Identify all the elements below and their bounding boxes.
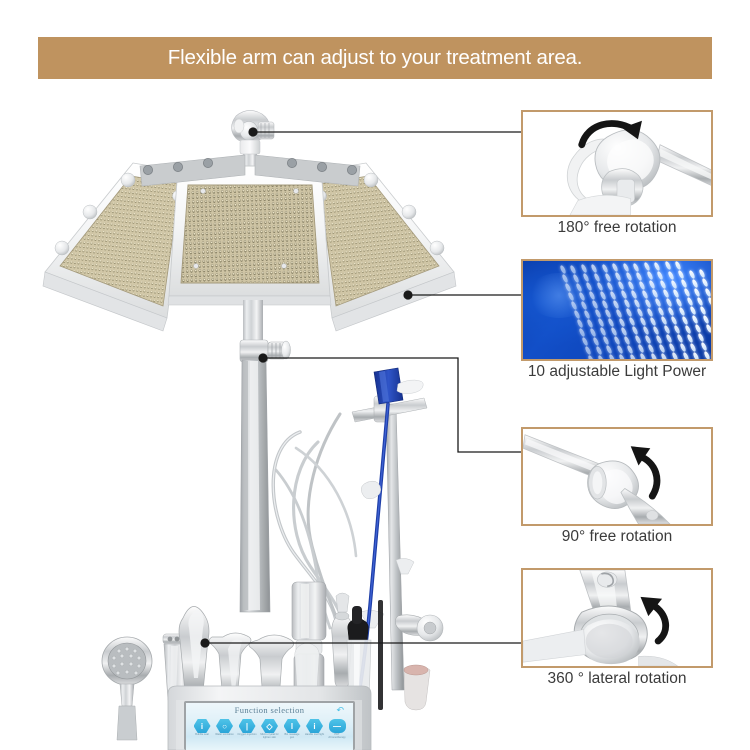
led-dot [705,323,713,333]
led-dot [616,345,624,355]
led-dot [569,264,577,274]
hex-icon: l [284,719,301,733]
led-dot [675,261,683,271]
mid-arm-joint [240,340,291,362]
led-dot [576,319,584,329]
led-dot [640,353,648,361]
led-dot [613,336,621,346]
blue-paddle-handle [374,368,423,404]
led-dot [684,324,692,334]
led-dot [618,317,626,327]
blue-led-panel-art [523,261,711,359]
led-dot [573,310,581,320]
led-dot [636,308,644,318]
led-dot-grid [523,261,711,359]
support-pole [240,300,291,612]
led-dot [679,343,687,353]
led-dot [668,343,676,353]
led-dot [691,278,699,288]
function-button-water-ionization[interactable]: ○ Water ionization [215,719,235,737]
led-dot [662,288,670,298]
led-dot [620,290,628,300]
led-dot [659,279,667,289]
led-dot [644,335,652,345]
led-dot [612,299,620,309]
back-arrow-icon[interactable]: ↶ [336,705,344,716]
led-dot [680,279,688,289]
led-dot [707,296,713,306]
led-dot [635,271,643,281]
joint-photo-art [523,112,711,215]
led-dot [621,326,629,336]
led-dot [610,327,618,337]
led-dot [614,272,622,282]
led-dot [677,270,685,280]
function-button-oxygen-injection[interactable]: | Oxygen injection [237,719,257,737]
function-button-micro-crystal[interactable]: ◇ Micro crystal for tighten skin [260,719,280,739]
led-dot [601,263,609,273]
function-button-bio-massage[interactable]: l Bio massage gun [282,719,302,739]
led-dot [590,263,598,273]
led-dot [584,346,592,356]
led-dot [602,336,610,346]
function-label: Oxygen injection [237,734,257,737]
led-dot [681,315,689,325]
hex-icon: i [306,719,323,733]
led-dot [664,261,672,271]
function-label: PDT chromotherapy [327,734,347,739]
led-dot [651,289,659,299]
led-dot [654,298,662,308]
led-dot [570,301,578,311]
led-dot [649,316,657,326]
feature-thumbnail[interactable] [521,427,713,526]
led-dot [643,262,651,272]
led-dot [660,316,668,326]
led-dot [579,328,587,338]
led-dot [652,325,660,335]
led-dot [567,292,575,302]
led-dot [605,345,613,355]
led-dot [572,273,580,283]
led-dot [700,342,708,352]
led-dot [702,314,710,324]
led-dot [683,288,691,298]
led-dot [649,280,657,290]
led-dot [694,287,702,297]
led-dot [607,318,615,328]
function-button-pdt[interactable]: — PDT chromotherapy [327,719,347,739]
led-dot [657,307,665,317]
led-dot [639,317,647,327]
function-label: Water ionization [215,734,235,737]
led-dot [596,282,604,292]
led-dot [587,355,595,361]
led-dot [593,272,601,282]
led-dot [697,333,705,343]
led-dot [699,305,707,315]
led-dot [673,288,681,298]
led-dot [562,274,570,284]
control-panel-screen[interactable]: Function selection ↶ i Bubble seal ○ Wat… [186,703,353,750]
led-dot [623,299,631,309]
led-dot [638,280,646,290]
led-dot [688,269,696,279]
led-dot [595,345,603,355]
led-dot [666,334,674,344]
led-dot [604,272,612,282]
hex-icon: ○ [216,719,233,733]
product-feature-slide: Function selection ↶ i Bubble seal ○ Wat… [0,0,750,750]
screen-title: Function selection [186,705,353,715]
led-dot [597,354,605,361]
function-label: Handle cool light [305,734,325,737]
led-dot [581,337,589,347]
led-dot [650,353,658,361]
led-dot [665,297,673,307]
function-label: Bubble seal [192,734,212,737]
led-dot [559,264,567,274]
feature-thumbnail[interactable] [521,110,713,217]
led-dot [599,291,607,301]
led-dot [585,282,593,292]
led-dot [689,306,697,316]
led-dot [626,308,634,318]
led-dot [701,278,709,288]
led-dot [625,271,633,281]
led-panel-right-wing [313,163,456,331]
led-dot [632,262,640,272]
trolley-side-hardware [378,558,443,710]
led-dot [682,352,690,361]
led-dot [673,325,681,335]
led-dot [691,315,699,325]
led-dot [671,352,679,361]
led-dot [656,270,664,280]
led-dot [692,351,700,361]
led-dot [617,281,625,291]
hex-icon: i [194,719,211,733]
handpiece-led-shower-head [102,637,152,740]
led-dot [647,344,655,354]
led-dot [642,326,650,336]
led-dot [667,270,675,280]
led-dot [608,354,616,361]
led-dot [629,353,637,361]
led-dot [689,342,697,352]
led-dot [696,296,704,306]
function-button-bubble-seal[interactable]: i Bubble seal [192,719,212,737]
led-dot [607,281,615,291]
led-dot [654,261,662,271]
led-dot [628,317,636,327]
led-dot [591,300,599,310]
led-dot [604,309,612,319]
led-dot [575,282,583,292]
ball-joint-photo-art [523,570,711,666]
led-dot [694,324,702,334]
led-dot [583,273,591,283]
led-dot [611,263,619,273]
banner-text: Flexible arm can adjust to your treatmen… [168,46,582,70]
led-panel-left-wing [43,163,186,331]
led-dot [687,333,695,343]
led-dot [647,307,655,317]
led-dot [578,291,586,301]
led-dot [634,335,642,345]
hex-icon: ◇ [261,719,278,733]
led-dot [581,300,589,310]
function-button-row: i Bubble seal ○ Water ionization | Oxyge… [192,719,347,739]
led-dot [594,309,602,319]
led-dot [619,354,627,361]
hex-icon: | [239,719,256,733]
led-dot [602,300,610,310]
led-dot [704,287,712,297]
led-dot [646,271,654,281]
rounded-icon: — [329,719,346,733]
led-dot [670,316,678,326]
header-banner: Flexible arm can adjust to your treatmen… [38,37,712,79]
led-dot [661,352,669,361]
led-dot [589,327,597,337]
led-dot [586,318,594,328]
function-label: Bio massage gun [282,734,302,739]
led-dot [686,297,694,307]
led-dot [631,326,639,336]
led-dot [676,334,684,344]
function-button-cool-light[interactable]: i Handle cool light [305,719,325,737]
led-dot [703,351,711,361]
led-dot [630,289,638,299]
led-dot [615,308,623,318]
led-dot [633,299,641,309]
led-dot [658,343,666,353]
led-dot [670,279,678,289]
led-dot [668,306,676,316]
led-dot [641,289,649,299]
led-dot [609,290,617,300]
led-dot [626,344,634,354]
led-dot [644,298,652,308]
feature-thumbnail[interactable] [521,568,713,668]
led-dot [583,309,591,319]
led-dot [675,297,683,307]
led-dot [564,283,572,293]
led-dot [678,306,686,316]
elbow-photo-art [523,429,711,524]
feature-thumbnail[interactable] [521,259,713,361]
led-dot [622,262,630,272]
led-dot [628,280,636,290]
led-dot [592,336,600,346]
function-label: Micro crystal for tighten skin [260,734,280,739]
led-dot [588,291,596,301]
led-dot [623,335,631,345]
led-dot [655,334,663,344]
